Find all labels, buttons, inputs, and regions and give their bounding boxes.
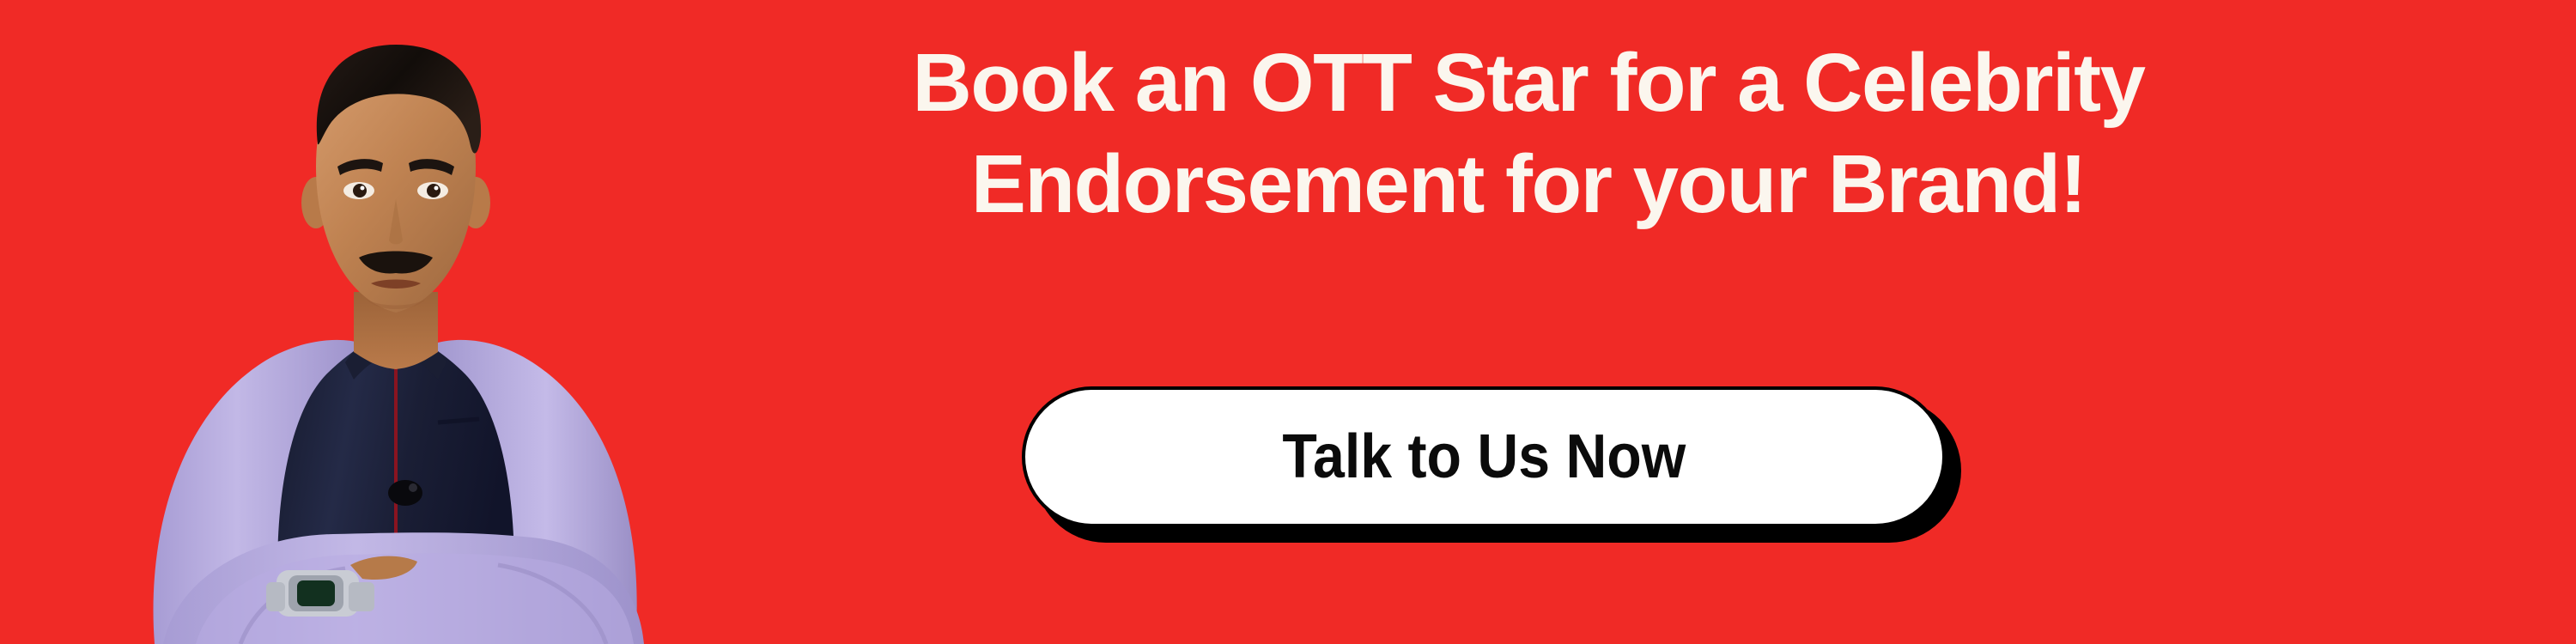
celebrity-head: [301, 45, 490, 313]
headline-line-2: Endorsement for your Brand!: [738, 134, 2318, 235]
headline-line-1: Book an OTT Star for a Celebrity: [738, 33, 2318, 134]
cta-button-label: Talk to Us Now: [1282, 426, 1686, 488]
lapel-mic-icon: [388, 480, 422, 506]
talk-to-us-now-button[interactable]: Talk to Us Now: [1022, 386, 1946, 527]
promo-banner: Book an OTT Star for a Celebrity Endorse…: [0, 0, 2576, 644]
celebrity-photo: [129, 15, 661, 644]
cta-container: Talk to Us Now: [1022, 386, 1975, 567]
headline: Book an OTT Star for a Celebrity Endorse…: [738, 33, 2318, 235]
